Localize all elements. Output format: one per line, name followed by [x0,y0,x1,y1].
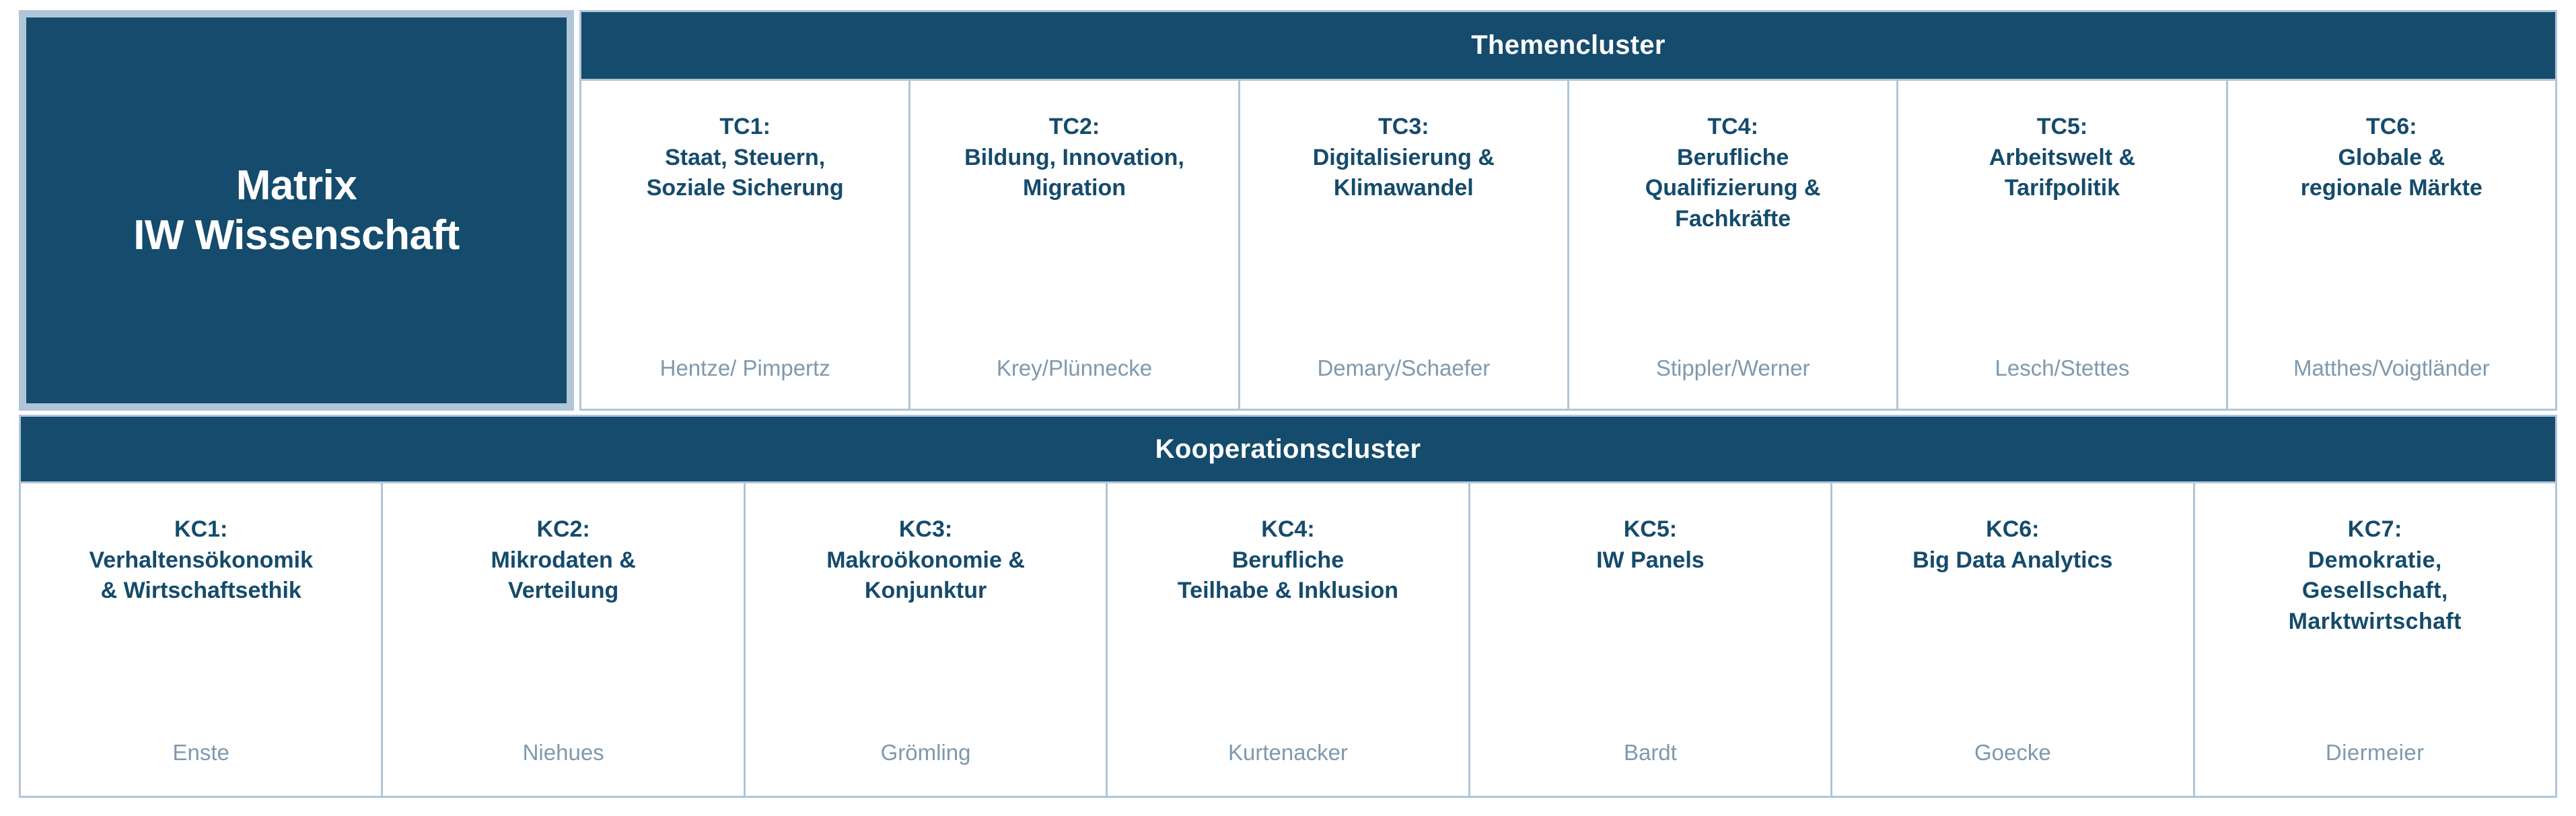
cluster-code: TC1: [591,112,899,143]
cluster-author: Kurtenacker [1118,739,1457,766]
cluster-code: KC2: [394,514,732,545]
cluster-author: Goecke [1843,739,2182,766]
cluster-title-line-2: Konjunktur [756,576,1095,607]
cluster-code: KC6: [1843,514,2182,545]
kooperationscluster-band-label: Kooperationscluster [19,415,2557,483]
cluster-title: KC1: Verhaltensökonomik & Wirtschaftseth… [32,514,370,607]
kooperationscluster-grid: KC1: Verhaltensökonomik & Wirtschaftseth… [19,483,2557,798]
cluster-title-line-1: Berufliche [1118,545,1457,576]
matrix-title-line-2: IW Wissenschaft [133,211,460,260]
cluster-title-line-1: Arbeitswelt & [1908,143,2216,174]
cluster-title-line-2: Tarifpolitik [1908,173,2216,204]
kooperationscluster-cell-kc6[interactable]: KC6: Big Data Analytics Goecke [1830,483,2192,796]
cluster-code: TC2: [920,112,1228,143]
cluster-title: KC7: Demokratie, Gesellschaft, Marktwirt… [2206,514,2544,637]
cluster-author: Stippler/Werner [1579,355,1887,382]
matrix-title-cell: Matrix IW Wissenschaft [19,10,574,411]
iw-wissenschaft-matrix-diagram: Matrix IW Wissenschaft Themencluster TC1… [19,10,2557,798]
cluster-title-line-1: Bildung, Innovation, [920,143,1228,174]
themencluster-cell-tc2[interactable]: TC2: Bildung, Innovation, Migration Krey… [908,81,1238,409]
matrix-title-line-1: Matrix [236,161,357,210]
themencluster-section: Matrix IW Wissenschaft Themencluster TC1… [19,10,2557,411]
cluster-title-line-2: Qualifizierung & [1579,173,1887,204]
kooperationscluster-cell-kc2[interactable]: KC2: Mikrodaten & Verteilung Niehues [381,483,743,796]
cluster-title-line-3: Fachkräfte [1579,204,1887,235]
cluster-author: Niehues [394,739,732,766]
cluster-author: Grömling [756,739,1095,766]
cluster-title: KC3: Makroökonomie & Konjunktur [756,514,1095,607]
cluster-title: TC4: Berufliche Qualifizierung & Fachkrä… [1579,112,1887,234]
cluster-title-line-1: Makroökonomie & [756,545,1095,576]
kooperationscluster-section: Kooperationscluster KC1: Verhaltensökono… [19,415,2557,798]
cluster-code: TC6: [2238,112,2546,143]
kooperationscluster-cell-kc4[interactable]: KC4: Berufliche Teilhabe & Inklusion Kur… [1106,483,1468,796]
cluster-title-line-1: Staat, Steuern, [591,143,899,174]
cluster-title-line-2: & Wirtschaftsethik [32,576,370,607]
cluster-code: KC7: [2206,514,2544,545]
cluster-title-line-3: Marktwirtschaft [2206,607,2544,638]
cluster-author: Lesch/Stettes [1908,355,2216,382]
cluster-title: KC2: Mikrodaten & Verteilung [394,514,732,607]
themencluster-column-group: Themencluster TC1: Staat, Steuern, Sozia… [579,10,2557,411]
cluster-code: KC1: [32,514,370,545]
cluster-title-line-2: regionale Märkte [2238,173,2546,204]
cluster-title-line-1: Big Data Analytics [1843,545,2182,576]
cluster-title: KC4: Berufliche Teilhabe & Inklusion [1118,514,1457,607]
cluster-title: TC1: Staat, Steuern, Soziale Sicherung [591,112,899,204]
cluster-code: KC4: [1118,514,1457,545]
cluster-title-line-2: Teilhabe & Inklusion [1118,576,1457,607]
cluster-title-line-1: Mikrodaten & [394,545,732,576]
cluster-title-line-1: Digitalisierung & [1250,143,1558,174]
cluster-code: KC5: [1481,514,1820,545]
themencluster-cell-tc1[interactable]: TC1: Staat, Steuern, Soziale Sicherung H… [581,81,908,409]
kooperationscluster-cell-kc1[interactable]: KC1: Verhaltensökonomik & Wirtschaftseth… [21,483,381,796]
cluster-title-line-2: Soziale Sicherung [591,173,899,204]
matrix-title-panel: Matrix IW Wissenschaft [26,18,567,403]
cluster-title-line-2: Klimawandel [1250,173,1558,204]
cluster-author: Bardt [1481,739,1820,766]
cluster-author: Demary/Schaefer [1250,355,1558,382]
cluster-title: TC6: Globale & regionale Märkte [2238,112,2546,204]
kooperationscluster-cell-kc7[interactable]: KC7: Demokratie, Gesellschaft, Marktwirt… [2193,483,2555,796]
cluster-author: Enste [32,739,370,766]
cluster-title: KC6: Big Data Analytics [1843,514,2182,576]
cluster-title: TC5: Arbeitswelt & Tarifpolitik [1908,112,2216,204]
kooperationscluster-cell-kc3[interactable]: KC3: Makroökonomie & Konjunktur Grömling [744,483,1106,796]
cluster-title-line-1: Verhaltensökonomik [32,545,370,576]
themencluster-cell-tc5[interactable]: TC5: Arbeitswelt & Tarifpolitik Lesch/St… [1896,81,2225,409]
themencluster-cell-tc6[interactable]: TC6: Globale & regionale Märkte Matthes/… [2226,81,2555,409]
cluster-title: TC3: Digitalisierung & Klimawandel [1250,112,1558,204]
cluster-author: Diermeier [2206,739,2544,766]
cluster-code: TC3: [1250,112,1558,143]
cluster-title-line-2: Gesellschaft, [2206,576,2544,607]
cluster-title-line-1: IW Panels [1481,545,1820,576]
cluster-code: TC5: [1908,112,2216,143]
cluster-title-line-1: Demokratie, [2206,545,2544,576]
cluster-code: KC3: [756,514,1095,545]
cluster-title-line-1: Globale & [2238,143,2546,174]
kooperationscluster-cell-kc5[interactable]: KC5: IW Panels Bardt [1468,483,1830,796]
cluster-title-line-2: Verteilung [394,576,732,607]
cluster-title-line-1: Berufliche [1579,143,1887,174]
themencluster-grid: TC1: Staat, Steuern, Soziale Sicherung H… [579,81,2557,411]
cluster-author: Hentze/ Pimpertz [591,355,899,382]
cluster-title: KC5: IW Panels [1481,514,1820,576]
cluster-author: Krey/Plünnecke [920,355,1228,382]
cluster-code: TC4: [1579,112,1887,143]
cluster-title-line-2: Migration [920,173,1228,204]
themencluster-band-label: Themencluster [579,10,2557,81]
themencluster-cell-tc3[interactable]: TC3: Digitalisierung & Klimawandel Demar… [1238,81,1567,409]
cluster-title: TC2: Bildung, Innovation, Migration [920,112,1228,204]
themencluster-cell-tc4[interactable]: TC4: Berufliche Qualifizierung & Fachkrä… [1567,81,1896,409]
cluster-author: Matthes/Voigtländer [2238,355,2546,382]
